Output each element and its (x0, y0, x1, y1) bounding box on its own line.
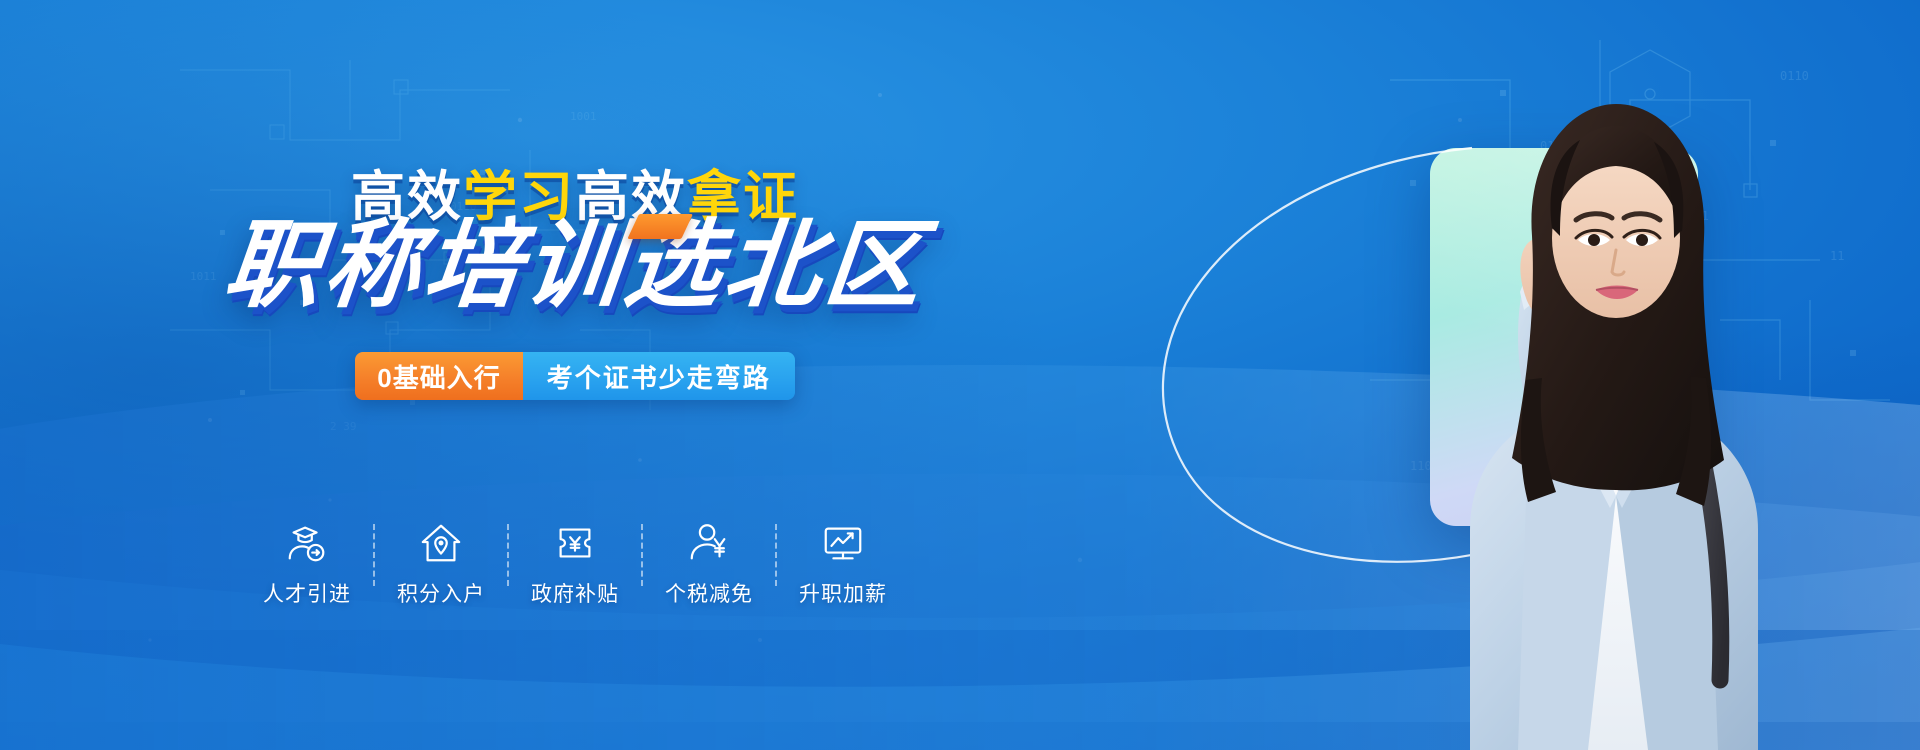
feature-item-points[interactable]: 积分入户 (375, 520, 507, 608)
tagline-pill: 0基础入行 考个证书少走弯路 (0, 352, 1150, 400)
feature-item-promotion[interactable]: 升职加薪 (777, 520, 909, 608)
pill-text-certificate: 考个证书少走弯路 (523, 352, 795, 400)
main-headline-text: 职称培训选北区 (219, 212, 930, 319)
model-photo-zone (1140, 0, 1920, 750)
feature-list: 人才引进 积分入户 (0, 520, 1150, 608)
feature-label-points: 积分入户 (397, 578, 485, 608)
feature-item-talent[interactable]: 人才引进 (241, 520, 373, 608)
chart-monitor-icon (820, 520, 866, 566)
ticket-yuan-icon (552, 520, 598, 566)
feature-label-tax: 个税减免 (665, 578, 753, 608)
promo-banner: 10110110 2 391001 (0, 0, 1920, 750)
main-headline: 职称培训选北区 (220, 218, 930, 314)
person-yuan-icon (686, 520, 732, 566)
presenter-illustration (1320, 60, 1840, 750)
pill-badge-zero-base: 0基础入行 (355, 352, 522, 400)
house-location-icon (418, 520, 464, 566)
feature-label-talent: 人才引进 (263, 578, 351, 608)
banner-content: 高效学习高效拿证 职称培训选北区 0基础入行 考个证书少走弯路 (0, 0, 1150, 750)
graduate-person-icon (284, 520, 330, 566)
tagline-pill-inner: 0基础入行 考个证书少走弯路 (355, 352, 794, 400)
feature-label-subsidy: 政府补贴 (531, 578, 619, 608)
feature-item-subsidy[interactable]: 政府补贴 (509, 520, 641, 608)
feature-item-tax[interactable]: 个税减免 (643, 520, 775, 608)
feature-label-promotion: 升职加薪 (799, 578, 887, 608)
main-headline-wrap: 职称培训选北区 (0, 218, 1150, 338)
